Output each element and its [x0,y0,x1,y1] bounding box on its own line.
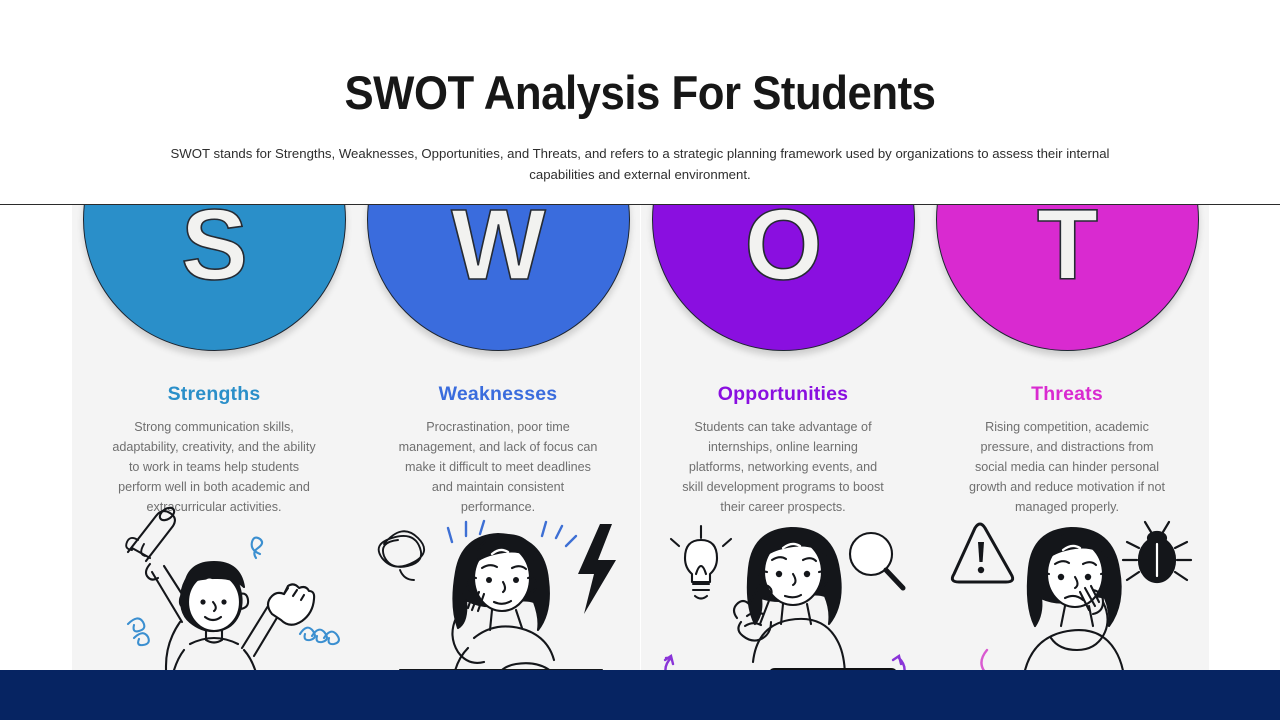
swot-badge-opportunities: O [652,205,915,351]
illustration-student-celebrating [72,498,356,670]
swot-letter-o: O [745,205,823,295]
swot-card-strengths[interactable]: S Strengths Strong communication skills,… [72,205,356,670]
swot-letter-t: T [1037,205,1098,295]
page-title: SWOT Analysis For Students [45,68,1235,117]
swot-letter-w: W [451,205,545,295]
swot-title-threats: Threats [925,383,1209,406]
illustration-student-stressed [356,498,640,670]
swot-badge-strengths: S [83,205,346,351]
illustration-student-worried [925,498,1209,670]
slide-canvas: SWOT Analysis For Students SWOT stands f… [0,0,1280,720]
swot-badge-threats: T [936,205,1199,351]
illustration-student-idea [641,498,925,670]
swot-columns: S Strengths Strong communication skills,… [0,205,1280,670]
swot-card-weaknesses[interactable]: W Weaknesses Procrastination, poor time … [356,205,640,670]
bottom-accent-bar [0,670,1280,720]
swot-badge-weaknesses: W [367,205,630,351]
swot-letter-s: S [181,205,248,295]
swot-title-strengths: Strengths [72,383,356,406]
swot-title-opportunities: Opportunities [641,383,925,406]
swot-card-opportunities[interactable]: O Opportunities Students can take advant… [641,205,925,670]
page-subtitle: SWOT stands for Strengths, Weaknesses, O… [153,143,1128,185]
swot-card-threats[interactable]: T Threats Rising competition, academic p… [925,205,1209,670]
slide-header: SWOT Analysis For Students SWOT stands f… [0,0,1280,205]
swot-title-weaknesses: Weaknesses [356,383,640,406]
